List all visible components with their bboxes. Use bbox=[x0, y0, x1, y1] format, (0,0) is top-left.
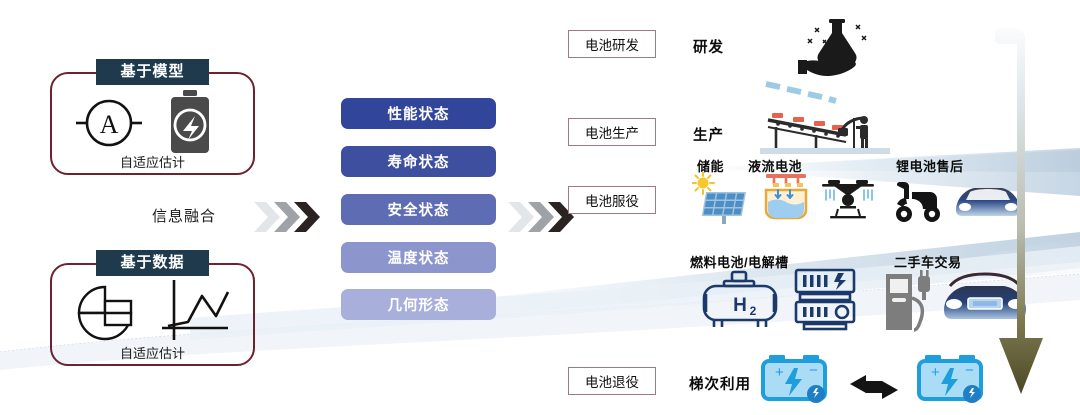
downward-lifecycle-arrow bbox=[995, 22, 1059, 404]
stage-box-production[interactable]: 电池生产 bbox=[568, 118, 656, 146]
diagram-canvas: 基于模型 A 自适应估计 基于数据 自适应估计 信息融合 bbox=[0, 0, 1080, 415]
svg-text:2: 2 bbox=[750, 304, 757, 318]
svg-text:+: + bbox=[775, 364, 784, 381]
flow-battery-icon bbox=[758, 170, 814, 224]
ammeter-icon: A bbox=[72, 92, 146, 154]
battery-icon: + − bbox=[761, 355, 827, 407]
fusion-label: 信息融合 bbox=[152, 205, 216, 226]
chevron-arrows-fusion bbox=[252, 196, 330, 238]
state-chip-geometry[interactable]: 几何形态 bbox=[341, 289, 496, 320]
svg-text:−: − bbox=[965, 362, 974, 379]
electrolyzer-icon bbox=[790, 266, 862, 334]
group-caption-lithium-aftersales: 锂电池售后 bbox=[896, 156, 964, 175]
battery-icon: + − bbox=[917, 355, 983, 407]
line-chart-icon bbox=[158, 276, 234, 348]
state-chip-label: 温度状态 bbox=[388, 247, 450, 268]
stage-box-rd[interactable]: 电池研发 bbox=[568, 30, 656, 58]
group-caption-fuelcell-electrolyzer: 燃料电池/电解槽 bbox=[690, 252, 789, 271]
stage-box-service[interactable]: 电池服役 bbox=[568, 186, 656, 214]
state-chip-label: 安全状态 bbox=[388, 199, 450, 220]
state-chip-performance[interactable]: 性能状态 bbox=[341, 98, 496, 129]
flask-in-hand-icon bbox=[790, 18, 874, 76]
stage-box-label: 电池研发 bbox=[585, 34, 639, 54]
stage-name-rd: 研发 bbox=[693, 36, 724, 57]
stage-name-cascade-use: 梯次利用 bbox=[689, 373, 751, 394]
charging-station-icon bbox=[880, 268, 940, 334]
exchange-arrow-icon bbox=[846, 372, 902, 402]
panel-data-based-caption: 自适应估计 bbox=[50, 343, 255, 362]
stage-box-label: 电池服役 bbox=[585, 190, 639, 210]
stage-name-production: 生产 bbox=[693, 124, 724, 145]
svg-text:−: − bbox=[809, 362, 818, 379]
panel-model-based-caption: 自适应估计 bbox=[50, 152, 255, 171]
state-chip-temperature[interactable]: 温度状态 bbox=[341, 242, 496, 273]
battery-charge-icon bbox=[165, 88, 215, 156]
stage-box-retirement[interactable]: 电池退役 bbox=[568, 367, 656, 395]
state-chip-label: 性能状态 bbox=[388, 103, 450, 124]
svg-text:H: H bbox=[733, 295, 747, 316]
state-chip-label: 寿命状态 bbox=[388, 151, 450, 172]
stage-box-label: 电池退役 bbox=[585, 371, 639, 391]
hydrogen-tank-icon: H 2 bbox=[700, 270, 784, 332]
conveyor-production-icon bbox=[760, 72, 890, 154]
state-chip-life[interactable]: 寿命状态 bbox=[341, 146, 496, 177]
solar-panel-icon bbox=[692, 172, 748, 224]
panel-model-based-tab: 基于模型 bbox=[96, 59, 209, 85]
stage-box-label: 电池生产 bbox=[585, 122, 639, 142]
svg-text:+: + bbox=[931, 364, 940, 381]
state-chip-label: 几何形态 bbox=[388, 294, 450, 315]
pie-chart-icon bbox=[72, 282, 142, 344]
scooter-icon bbox=[890, 176, 946, 224]
state-chip-safety[interactable]: 安全状态 bbox=[341, 194, 496, 225]
drone-icon bbox=[818, 176, 878, 222]
svg-text:A: A bbox=[100, 110, 119, 139]
panel-data-based-tab: 基于数据 bbox=[96, 250, 209, 276]
